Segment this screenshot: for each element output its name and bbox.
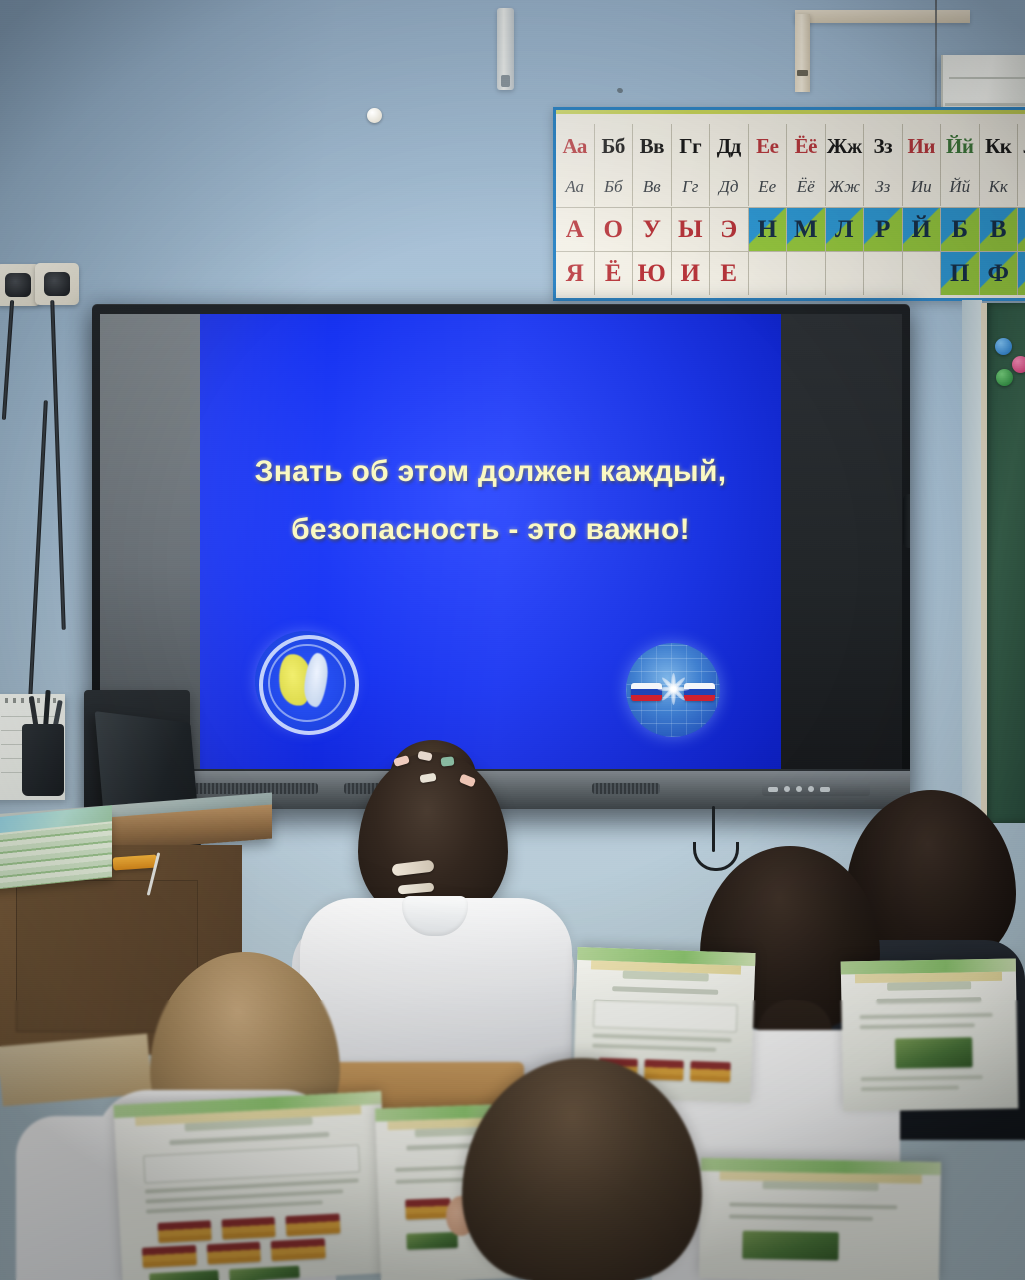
alpha-cell: Лл (1018, 168, 1025, 206)
emercom-emblem-icon (626, 643, 720, 737)
alpha-cell: Жж (826, 124, 865, 168)
menu-button-icon[interactable] (784, 786, 790, 792)
alpha-cell: Дд (710, 168, 749, 206)
open-textbook (699, 1158, 941, 1280)
power-button-icon[interactable] (768, 787, 778, 792)
empty-cell (864, 251, 903, 295)
letter: Я (566, 261, 584, 286)
whiteboard-screen[interactable]: Знать об этом должен каждый, безопасност… (100, 314, 902, 769)
letter: Ёё (795, 136, 817, 157)
whiteboard-control-panel[interactable] (762, 782, 870, 796)
cable-trunking-vertical (795, 14, 810, 92)
cabinet-seam-lower (945, 103, 1025, 106)
letter: Н (758, 217, 777, 242)
letter: И (681, 261, 700, 286)
cursive-letter: Йй (949, 177, 970, 197)
consonant-cell: К (1018, 251, 1025, 295)
poster-pin-icon (367, 108, 382, 123)
letter: Ё (605, 261, 622, 286)
empty-cell (826, 251, 865, 295)
consonant-cell: М (787, 207, 826, 251)
alpha-cell: Аа (556, 124, 595, 168)
letter: В (990, 217, 1007, 242)
alpha-cell: Йй (941, 168, 980, 206)
source-button-icon[interactable] (808, 786, 814, 792)
consonant-cell: Н (749, 207, 788, 251)
letter: Е (720, 261, 737, 286)
alpha-cell: Дд (710, 124, 749, 168)
cable-conduit-icon (497, 8, 514, 90)
wall-strip (962, 300, 982, 825)
letter: Жж (827, 136, 862, 157)
alpha-cell: Гг (672, 168, 711, 206)
empty-cell (749, 251, 788, 295)
interactive-whiteboard[interactable]: Знать об этом должен каждый, безопасност… (92, 304, 910, 809)
consonant-cell: В (980, 207, 1019, 251)
letter: Ф (988, 261, 1009, 286)
letter: Ы (678, 217, 703, 242)
vowel-cell: Ы (672, 207, 711, 251)
cursive-letter: Кк (989, 177, 1008, 197)
cable-trunking-horizontal (795, 10, 970, 23)
consonant-cell: Б (941, 207, 980, 251)
letter: Э (720, 217, 737, 242)
alpha-cell: Жж (826, 168, 865, 206)
letter: М (794, 217, 818, 242)
alpha-cell: Йй (941, 124, 980, 168)
alpha-cell: Бб (595, 124, 634, 168)
vowel-cell: Ю (633, 251, 672, 295)
alpha-cell: Бб (595, 168, 634, 206)
alpha-cell: Ёё (787, 124, 826, 168)
consonant-cell: Ф (980, 251, 1019, 295)
regional-emblem-icon (255, 631, 355, 731)
presentation-slide: Знать об этом должен каждый, безопасност… (200, 314, 781, 769)
vowel-cell: Я (556, 251, 595, 295)
magnet-green-icon (996, 369, 1013, 386)
alpha-cell: Лл (1018, 124, 1025, 168)
cursive-letter: Вв (643, 177, 661, 197)
alpha-cell: Зз (864, 168, 903, 206)
letter: Йй (946, 136, 973, 157)
alpha-cell: Ии (903, 124, 942, 168)
wall-socket (35, 263, 79, 305)
poster-vowel-row-2: Я Ё Ю И Е П Ф К (556, 251, 1025, 295)
alpha-cell: Ее (749, 168, 788, 206)
alpha-cell: Вв (633, 124, 672, 168)
letter: Зз (873, 136, 892, 157)
emblem-star-icon (657, 673, 689, 705)
cursive-letter: Дд (719, 177, 738, 197)
alpha-cell: Аа (556, 168, 595, 206)
magnet-pink-icon (1012, 356, 1025, 373)
vowel-cell: И (672, 251, 711, 295)
alpha-cell: Ёё (787, 168, 826, 206)
volume-button-icon[interactable] (796, 786, 802, 792)
letter: Дд (717, 136, 741, 157)
letter: Ее (756, 136, 778, 157)
poster-print-letters: Аа Бб Вв Гг Дд Ее Ёё Жж Зз Ии Йй Кк Лл (556, 124, 1025, 168)
letterbox-right (781, 314, 902, 769)
magnet-blue-icon (995, 338, 1012, 355)
consonant-cell: Й (903, 207, 942, 251)
whiteboard-side-port (903, 494, 910, 548)
cursive-letter: Ии (911, 177, 932, 197)
vowel-cell: О (595, 207, 634, 251)
poster-top-band (556, 110, 1025, 114)
open-textbook (113, 1091, 390, 1280)
consonant-cell: Р (864, 207, 903, 251)
letter: А (566, 217, 584, 242)
hair-clip-icon (441, 756, 455, 766)
hanging-cord (712, 806, 715, 852)
usb-port-icon[interactable] (820, 787, 830, 792)
alpha-cell: Зз (864, 124, 903, 168)
letter: Р (875, 217, 890, 242)
hanging-wire (935, 0, 937, 120)
classroom-photo: Аа Бб Вв Гг Дд Ее Ёё Жж Зз Ии Йй Кк Лл А… (0, 0, 1025, 1280)
alpha-cell: Гг (672, 124, 711, 168)
cursive-letter: Жж (829, 177, 860, 197)
alpha-cell: Кк (980, 124, 1019, 168)
consonant-cell: П (941, 251, 980, 295)
vowel-cell: Ё (595, 251, 634, 295)
open-textbook (841, 958, 1019, 1111)
alpha-cell: Кк (980, 168, 1019, 206)
consonant-cell: Г (1018, 207, 1025, 251)
vowel-cell: У (633, 207, 672, 251)
letter: Б (951, 217, 968, 242)
cyrillic-alphabet-poster: Аа Бб Вв Гг Дд Ее Ёё Жж Зз Ии Йй Кк Лл А… (553, 107, 1025, 301)
letter: Л (835, 217, 854, 242)
cursive-letter: Бб (604, 177, 623, 197)
empty-cell (787, 251, 826, 295)
cursive-letter: Аа (565, 177, 584, 197)
cursive-letter: Зз (875, 177, 890, 197)
wall-socket (0, 264, 40, 306)
letter: Ии (908, 136, 935, 157)
letter: Вв (640, 136, 664, 157)
cabinet-seam (949, 77, 1025, 79)
speaker-grille (592, 783, 660, 794)
letter: Кк (985, 136, 1011, 157)
pen-holder (22, 724, 64, 796)
alpha-cell: Ее (749, 124, 788, 168)
empty-cell (903, 251, 942, 295)
vowel-cell: А (556, 207, 595, 251)
consonant-cell: Л (826, 207, 865, 251)
letter: П (950, 261, 969, 286)
vowel-cell: Е (710, 251, 749, 295)
slide-heading-line-1: Знать об этом должен каждый, (200, 455, 781, 489)
letter: О (604, 217, 623, 242)
letter: Бб (602, 136, 625, 157)
letter: У (643, 217, 661, 242)
slide-heading-line-2: безопасность - это важно! (200, 513, 781, 547)
alpha-cell: Вв (633, 168, 672, 206)
letter: Аа (563, 136, 587, 157)
vowel-cell: Э (710, 207, 749, 251)
letter: Ю (638, 261, 666, 286)
alpha-cell: Ии (903, 168, 942, 206)
poster-vowel-row: А О У Ы Э Н М Л Р Й Б В Г (556, 207, 1025, 251)
cursive-letter: Ёё (797, 177, 815, 197)
letter: Гг (679, 136, 701, 157)
cursive-letter: Ее (758, 177, 776, 197)
poster-cursive-letters: Аа Бб Вв Гг Дд Ее Ёё Жж Зз Ии Йй Кк Лл (556, 168, 1025, 206)
letter: Й (912, 217, 931, 242)
cursive-letter: Гг (682, 177, 698, 197)
